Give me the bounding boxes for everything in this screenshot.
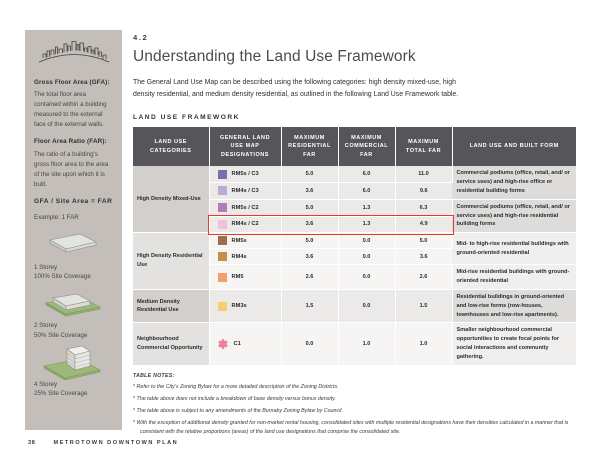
cell-built-form: Mid-rise residential buildings with grou…	[452, 265, 576, 290]
cell-total-far: 11.0	[395, 166, 452, 182]
cell-designation: C1	[209, 323, 281, 365]
example-label: Example: 1 FAR	[34, 214, 113, 221]
cell-commercial-far: 6.0	[338, 166, 395, 182]
document-title: METROTOWN DOWNTOWN PLAN	[53, 440, 178, 446]
table-note-2-text: The table above does not include a break…	[137, 396, 336, 402]
cell-commercial-far: 0.0	[338, 265, 395, 290]
skyline-illustration	[25, 30, 122, 76]
city-skyline-icon	[37, 38, 111, 68]
th-maximum-commercial-far: MAXIMUM COMMERCIAL FAR	[338, 127, 395, 167]
table-notes-heading: TABLE NOTES:	[133, 373, 576, 379]
table-row: Neighbourhood Commercial OpportunityC10.…	[133, 323, 576, 365]
designation-label: RM5s	[232, 238, 247, 244]
cell-designation: RM5	[209, 265, 281, 290]
th-land-use-and-built-form: LAND USE AND BUILT FORM	[452, 127, 576, 167]
table-wrapper: LAND USE CATEGORIES GENERAL LAND USE MAP…	[133, 127, 576, 366]
diagram-1-storeys: 1 Storey	[34, 264, 57, 271]
cell-commercial-far: 0.0	[338, 249, 395, 265]
gfa-heading: Gross Floor Area (GFA):	[34, 79, 113, 87]
designation-label: RM4s	[232, 254, 247, 260]
cell-commercial-far: 6.0	[338, 183, 395, 200]
table-note-3: * The table above is subject to any amen…	[133, 407, 576, 416]
diagram-1-coverage: 100% Site Coverage	[34, 273, 91, 280]
diagram-2-storeys: 2 Storey	[34, 322, 57, 329]
cell-residential-far: 3.6	[281, 249, 338, 265]
table-note-1: * Refer to the City's Zoning Bylaw for a…	[133, 383, 576, 392]
two-storey-massing-icon	[34, 285, 106, 319]
document-page: Gross Floor Area (GFA): The total floor …	[0, 0, 600, 462]
cell-total-far: 9.6	[395, 183, 452, 200]
cell-land-use-category: Medium Density Residential Use	[133, 289, 209, 322]
table-note-4: * With the exception of additional densi…	[133, 419, 576, 436]
gfa-definition: The total floor area contained within a …	[34, 90, 113, 130]
cell-commercial-far: 0.0	[338, 289, 395, 322]
cell-total-far: 4.9	[395, 216, 452, 233]
land-use-framework-table: LAND USE CATEGORIES GENERAL LAND USE MAP…	[133, 127, 576, 366]
main-content: 4.2 Understanding the Land Use Framework…	[133, 33, 576, 440]
table-notes: TABLE NOTES: * Refer to the City's Zonin…	[133, 373, 576, 437]
cell-commercial-far: 1.0	[338, 323, 395, 365]
designation-label: RM5	[232, 274, 244, 280]
designation-label: RM5s / C2	[232, 205, 259, 211]
designation-label: RM4s / C2	[232, 221, 259, 227]
cell-built-form: Commercial podiums (office, retail, and/…	[452, 166, 576, 199]
table-note-3-text: The table above is subject to any amendm…	[137, 408, 343, 414]
cell-residential-far: 5.0	[281, 199, 338, 216]
cell-designation: RM4s	[209, 249, 281, 265]
cell-commercial-far: 1.3	[338, 216, 395, 233]
flower-swatch-icon	[218, 339, 229, 350]
cell-residential-far: 1.5	[281, 289, 338, 322]
table-caption: LAND USE FRAMEWORK	[133, 114, 576, 121]
one-storey-massing-icon	[34, 227, 106, 261]
cell-land-use-category: Neighbourhood Commercial Opportunity	[133, 323, 209, 365]
th-general-land-use-map-designations: GENERAL LAND USE MAP DESIGNATIONS	[209, 127, 281, 167]
designation-label: RM3s	[232, 303, 247, 309]
diagram-4-coverage: 25% Site Coverage	[34, 390, 87, 397]
designation-label: RM5s / C3	[232, 171, 259, 177]
table-note-4-text: With the exception of additional density…	[137, 420, 569, 435]
diagram-2-coverage: 50% Site Coverage	[34, 332, 87, 339]
color-swatch-icon	[218, 252, 227, 261]
designation-label: RM4s / C3	[232, 188, 259, 194]
table-row: High Density Mixed-UseRM5s / C35.06.011.…	[133, 166, 576, 182]
cell-built-form: Mid- to high-rise residential buildings …	[452, 233, 576, 265]
color-swatch-icon	[218, 203, 227, 212]
cell-total-far: 2.6	[395, 265, 452, 290]
diagram-1-storey: 1 Storey 100% Site Coverage	[34, 227, 113, 282]
cell-built-form: Commercial podiums (office, retail, and/…	[452, 199, 576, 232]
diagram-4-storeys: 4 Storey	[34, 381, 57, 388]
cell-residential-far: 5.0	[281, 233, 338, 249]
cell-land-use-category: High Density Residential Use	[133, 233, 209, 290]
table-note-2: * The table above does not include a bre…	[133, 395, 576, 404]
definitions-sidebar: Gross Floor Area (GFA): The total floor …	[25, 30, 122, 430]
cell-commercial-far: 0.0	[338, 233, 395, 249]
cell-residential-far: 3.6	[281, 183, 338, 200]
cell-total-far: 6.3	[395, 199, 452, 216]
section-number: 4.2	[133, 33, 576, 42]
color-swatch-icon	[218, 236, 227, 245]
table-body: High Density Mixed-UseRM5s / C35.06.011.…	[133, 166, 576, 365]
table-row: Medium Density Residential UseRM3s1.50.0…	[133, 289, 576, 322]
far-definition: The ratio of a building's gross floor ar…	[34, 150, 113, 190]
table-header-row: LAND USE CATEGORIES GENERAL LAND USE MAP…	[133, 127, 576, 167]
table-row: High Density Residential UseRM5s5.00.05.…	[133, 233, 576, 249]
designation-label: C1	[234, 341, 241, 347]
th-land-use-categories: LAND USE CATEGORIES	[133, 127, 209, 167]
page-number: 38	[28, 440, 35, 446]
color-swatch-icon	[218, 302, 227, 311]
cell-total-far: 1.5	[395, 289, 452, 322]
intro-paragraph: The General Land Use Map can be describe…	[133, 77, 478, 101]
cell-total-far: 1.0	[395, 323, 452, 365]
color-swatch-icon	[218, 186, 227, 195]
cell-total-far: 5.0	[395, 233, 452, 249]
cell-residential-far: 0.0	[281, 323, 338, 365]
th-maximum-total-far: MAXIMUM TOTAL FAR	[395, 127, 452, 167]
cell-designation: RM3s	[209, 289, 281, 322]
cell-land-use-category: High Density Mixed-Use	[133, 166, 209, 232]
cell-designation: RM4s / C2	[209, 216, 281, 233]
cell-designation: RM5s / C3	[209, 166, 281, 182]
far-heading: Floor Area Ratio (FAR):	[34, 138, 113, 146]
diagram-4-storey: 4 Storey 25% Site Coverage	[34, 344, 113, 399]
cell-total-far: 3.6	[395, 249, 452, 265]
color-swatch-icon	[218, 220, 227, 229]
page-footer: 38 METROTOWN DOWNTOWN PLAN	[28, 440, 178, 446]
far-equation: GFA / Site Area = FAR	[34, 198, 113, 205]
diagram-2-storey: 2 Storey 50% Site Coverage	[34, 285, 113, 340]
page-title: Understanding the Land Use Framework	[133, 48, 576, 66]
cell-designation: RM5s	[209, 233, 281, 249]
table-note-1-text: Refer to the City's Zoning Bylaw for a m…	[137, 384, 339, 390]
cell-built-form: Residential buildings in ground-oriented…	[452, 289, 576, 322]
cell-designation: RM4s / C3	[209, 183, 281, 200]
cell-commercial-far: 1.3	[338, 199, 395, 216]
th-maximum-residential-far: MAXIMUM RESIDENTIAL FAR	[281, 127, 338, 167]
four-storey-massing-icon	[34, 344, 106, 380]
cell-residential-far: 5.0	[281, 166, 338, 182]
cell-designation: RM5s / C2	[209, 199, 281, 216]
color-swatch-icon	[218, 273, 227, 282]
cell-residential-far: 3.6	[281, 216, 338, 233]
cell-built-form: Smaller neighbourhood commercial opportu…	[452, 323, 576, 365]
color-swatch-icon	[218, 170, 227, 179]
cell-residential-far: 2.6	[281, 265, 338, 290]
